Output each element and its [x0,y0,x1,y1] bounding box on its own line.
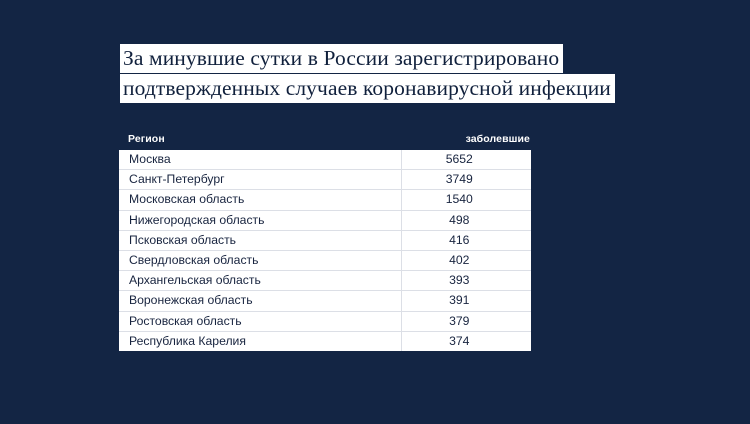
table-row: Ростовская область379 [119,311,531,331]
table-row: Свердловская область402 [119,251,531,271]
cell-region: Архангельская область [119,271,401,291]
column-header-region: Регион [119,131,401,150]
table-row: Нижегородская область498 [119,210,531,230]
page-title-line-1: За минувшие сутки в России зарегистриров… [120,44,563,73]
cell-cases: 391 [401,291,531,311]
table-row: Санкт-Петербург3749 [119,170,531,190]
table-header: Регион заболевшие [119,131,531,150]
cell-region: Псковская область [119,230,401,250]
table: Регион заболевшие Москва5652Санкт-Петерб… [119,131,531,351]
table-row: Республика Карелия374 [119,331,531,351]
table-row: Псковская область416 [119,230,531,250]
cell-cases: 402 [401,251,531,271]
cell-region: Москва [119,150,401,170]
page-title: За минувшие сутки в России зарегистриров… [120,44,680,104]
cell-cases: 498 [401,210,531,230]
cell-cases: 393 [401,271,531,291]
cell-region: Нижегородская область [119,210,401,230]
cell-cases: 1540 [401,190,531,210]
cell-cases: 379 [401,311,531,331]
table-row: Москва5652 [119,150,531,170]
table-header-row: Регион заболевшие [119,131,531,150]
cell-cases: 374 [401,331,531,351]
page-title-line-2: подтвержденных случаев коронавирусной ин… [120,74,615,103]
cell-region: Свердловская область [119,251,401,271]
cell-region: Московская область [119,190,401,210]
regions-cases-table: Регион заболевшие Москва5652Санкт-Петерб… [119,131,531,351]
cell-region: Республика Карелия [119,331,401,351]
table-row: Московская область1540 [119,190,531,210]
cell-cases: 3749 [401,170,531,190]
column-header-cases: заболевшие [401,131,531,150]
cell-region: Ростовская область [119,311,401,331]
table-row: Воронежская область391 [119,291,531,311]
cell-cases: 5652 [401,150,531,170]
table-row: Архангельская область393 [119,271,531,291]
table-body: Москва5652Санкт-Петербург3749Московская … [119,150,531,351]
cell-cases: 416 [401,230,531,250]
cell-region: Воронежская область [119,291,401,311]
cell-region: Санкт-Петербург [119,170,401,190]
